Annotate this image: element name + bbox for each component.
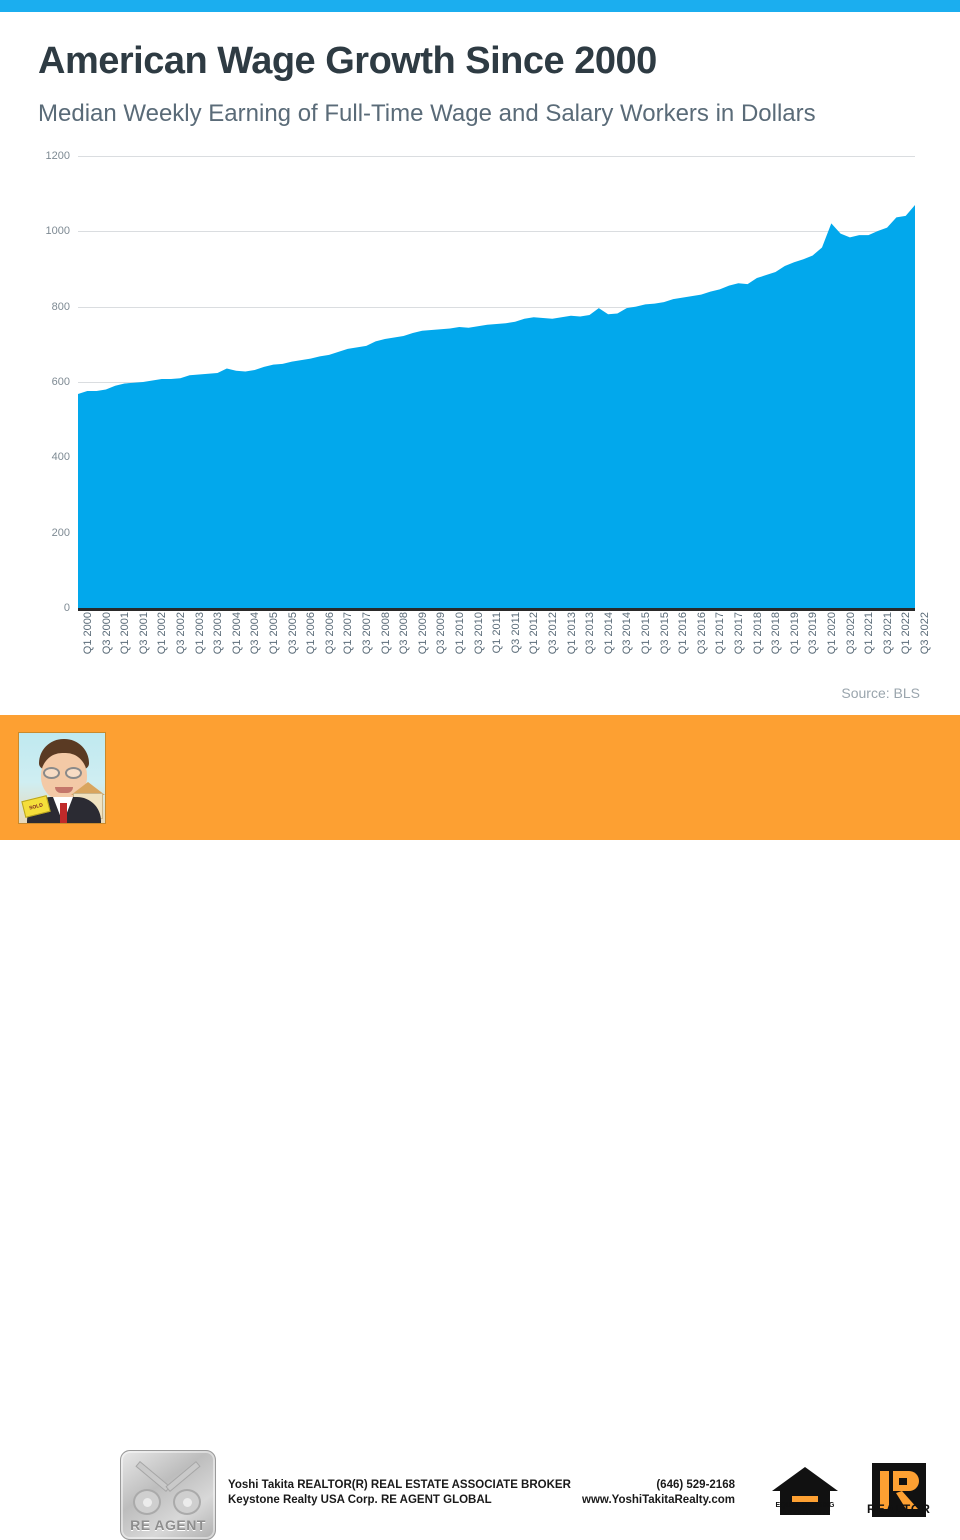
x-axis-label: Q3 2011: [510, 612, 522, 653]
key-icon-right: [165, 1461, 200, 1492]
x-axis-label: Q1 2019: [789, 612, 801, 654]
equal-housing-label: EQUAL HOUSING OPPORTUNITY: [758, 1502, 852, 1518]
x-axis-label: Q1 2014: [603, 612, 615, 654]
x-axis-label: Q3 2007: [361, 612, 373, 654]
x-axis-label: Q1 2003: [194, 612, 206, 654]
x-axis-label: Q3 2004: [249, 612, 261, 654]
x-axis-label: Q3 2021: [882, 612, 894, 654]
eho-line-1: EQUAL HOUSING: [758, 1502, 852, 1510]
x-axis-label: Q1 2009: [417, 612, 429, 654]
plot-area: 020040060080010001200: [78, 156, 915, 608]
re-agent-logo: RE AGENT: [120, 1450, 216, 1540]
avatar-tie: [60, 803, 67, 823]
y-axis-label: 800: [52, 301, 70, 313]
avatar-glasses-right: [65, 767, 82, 779]
x-axis-label: Q3 2019: [807, 612, 819, 654]
x-axis-label: Q3 2001: [138, 612, 150, 654]
x-axis-label: Q1 2010: [454, 612, 466, 654]
x-axis-label: Q3 2006: [324, 612, 336, 654]
avatar-glasses-left: [43, 767, 60, 779]
y-axis-label: 400: [52, 451, 70, 463]
agent-website[interactable]: www.YoshiTakitaRealty.com: [580, 1493, 735, 1508]
x-axis-label: Q1 2011: [491, 612, 503, 653]
x-axis-label: Q1 2018: [752, 612, 764, 654]
x-axis-label: Q1 2016: [677, 612, 689, 654]
eho-line-2: OPPORTUNITY: [758, 1510, 852, 1518]
x-axis-label: Q3 2017: [733, 612, 745, 654]
y-axis-label: 1200: [46, 150, 70, 162]
footer-banner: SOLD RE AGENT Yoshi Takita REALTOR(R) RE…: [0, 715, 960, 840]
key-ring-left: [133, 1489, 161, 1515]
agent-name-line: Yoshi Takita REALTOR(R) REAL ESTATE ASSO…: [228, 1478, 571, 1493]
key-ring-right: [173, 1489, 201, 1515]
x-axis-label: Q1 2007: [342, 612, 354, 654]
x-axis-label: Q3 2012: [547, 612, 559, 654]
source-note: Source: BLS: [841, 685, 920, 701]
contact-info: (646) 529-2168 www.YoshiTakitaRealty.com: [580, 1478, 735, 1508]
page-subtitle: Median Weekly Earning of Full-Time Wage …: [38, 100, 816, 128]
x-axis-label: Q3 2013: [584, 612, 596, 654]
agent-brokerage-line: Keystone Realty USA Corp. RE AGENT GLOBA…: [228, 1493, 571, 1508]
x-axis-label: Q1 2002: [156, 612, 168, 654]
x-axis-label: Q1 2006: [305, 612, 317, 654]
x-axis-label: Q3 2020: [845, 612, 857, 654]
top-accent-bar: [0, 0, 960, 12]
avatar: SOLD: [18, 732, 106, 824]
x-axis-label: Q1 2020: [826, 612, 838, 654]
realtor-label: REALTOR: [858, 1502, 940, 1516]
x-axis-label: Q3 2005: [287, 612, 299, 654]
x-axis-label: Q3 2015: [659, 612, 671, 654]
x-axis-label: Q3 2018: [770, 612, 782, 654]
key-ring-left-hole: [143, 1498, 152, 1507]
x-axis-label: Q3 2022: [919, 612, 931, 654]
x-axis-label: Q3 2009: [435, 612, 447, 654]
key-ring-right-hole: [183, 1498, 192, 1507]
y-axis-label: 600: [52, 376, 70, 388]
x-axis-label: Q3 2003: [212, 612, 224, 654]
re-agent-label: RE AGENT: [121, 1517, 215, 1533]
y-axis-label: 0: [64, 602, 70, 614]
x-axis-ticks: Q1 2000Q3 2000Q1 2001Q3 2001Q1 2002Q3 20…: [78, 612, 915, 712]
y-axis-label: 200: [52, 527, 70, 539]
x-axis-line: [78, 608, 915, 611]
x-axis-label: Q1 2015: [640, 612, 652, 654]
x-axis-label: Q1 2005: [268, 612, 280, 654]
agent-phone[interactable]: (646) 529-2168: [580, 1478, 735, 1493]
x-axis-label: Q3 2014: [621, 612, 633, 654]
x-axis-label: Q1 2000: [82, 612, 94, 654]
x-axis-label: Q3 2000: [101, 612, 113, 654]
x-axis-label: Q1 2022: [900, 612, 912, 654]
x-axis-label: Q3 2002: [175, 612, 187, 654]
x-axis-label: Q1 2001: [119, 612, 131, 654]
x-axis-label: Q3 2008: [398, 612, 410, 654]
wage-area-chart: [78, 156, 915, 608]
x-axis-label: Q3 2010: [473, 612, 485, 654]
x-axis-label: Q1 2017: [714, 612, 726, 654]
x-axis-label: Q1 2012: [528, 612, 540, 654]
x-axis-label: Q3 2016: [696, 612, 708, 654]
x-axis-label: Q1 2021: [863, 612, 875, 654]
x-axis-label: Q1 2004: [231, 612, 243, 654]
x-axis-label: Q1 2013: [566, 612, 578, 654]
chart-container: 020040060080010001200 Q1 2000Q3 2000Q1 2…: [0, 140, 960, 715]
page-title: American Wage Growth Since 2000: [38, 40, 657, 83]
agent-info: Yoshi Takita REALTOR(R) REAL ESTATE ASSO…: [228, 1478, 571, 1508]
x-axis-label: Q1 2008: [380, 612, 392, 654]
y-axis-label: 1000: [46, 225, 70, 237]
